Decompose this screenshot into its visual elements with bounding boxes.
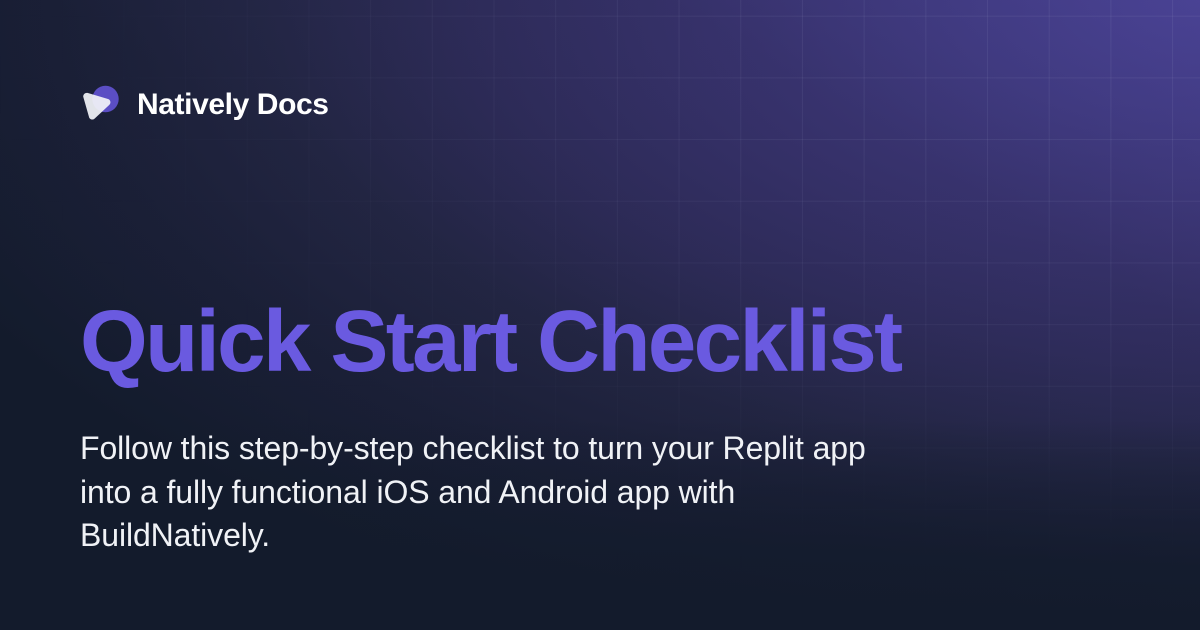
brand-name-text: Natively Docs xyxy=(137,90,329,120)
card-content: Natively Docs Quick Start Checklist Foll… xyxy=(0,0,1200,630)
page-title: Quick Start Checklist xyxy=(80,296,901,387)
page-description: Follow this step-by-step checklist to tu… xyxy=(80,427,900,558)
og-card: Natively Docs Quick Start Checklist Foll… xyxy=(0,0,1200,630)
natively-logo-icon xyxy=(80,84,120,126)
brand-lockup: Natively Docs xyxy=(80,82,329,128)
